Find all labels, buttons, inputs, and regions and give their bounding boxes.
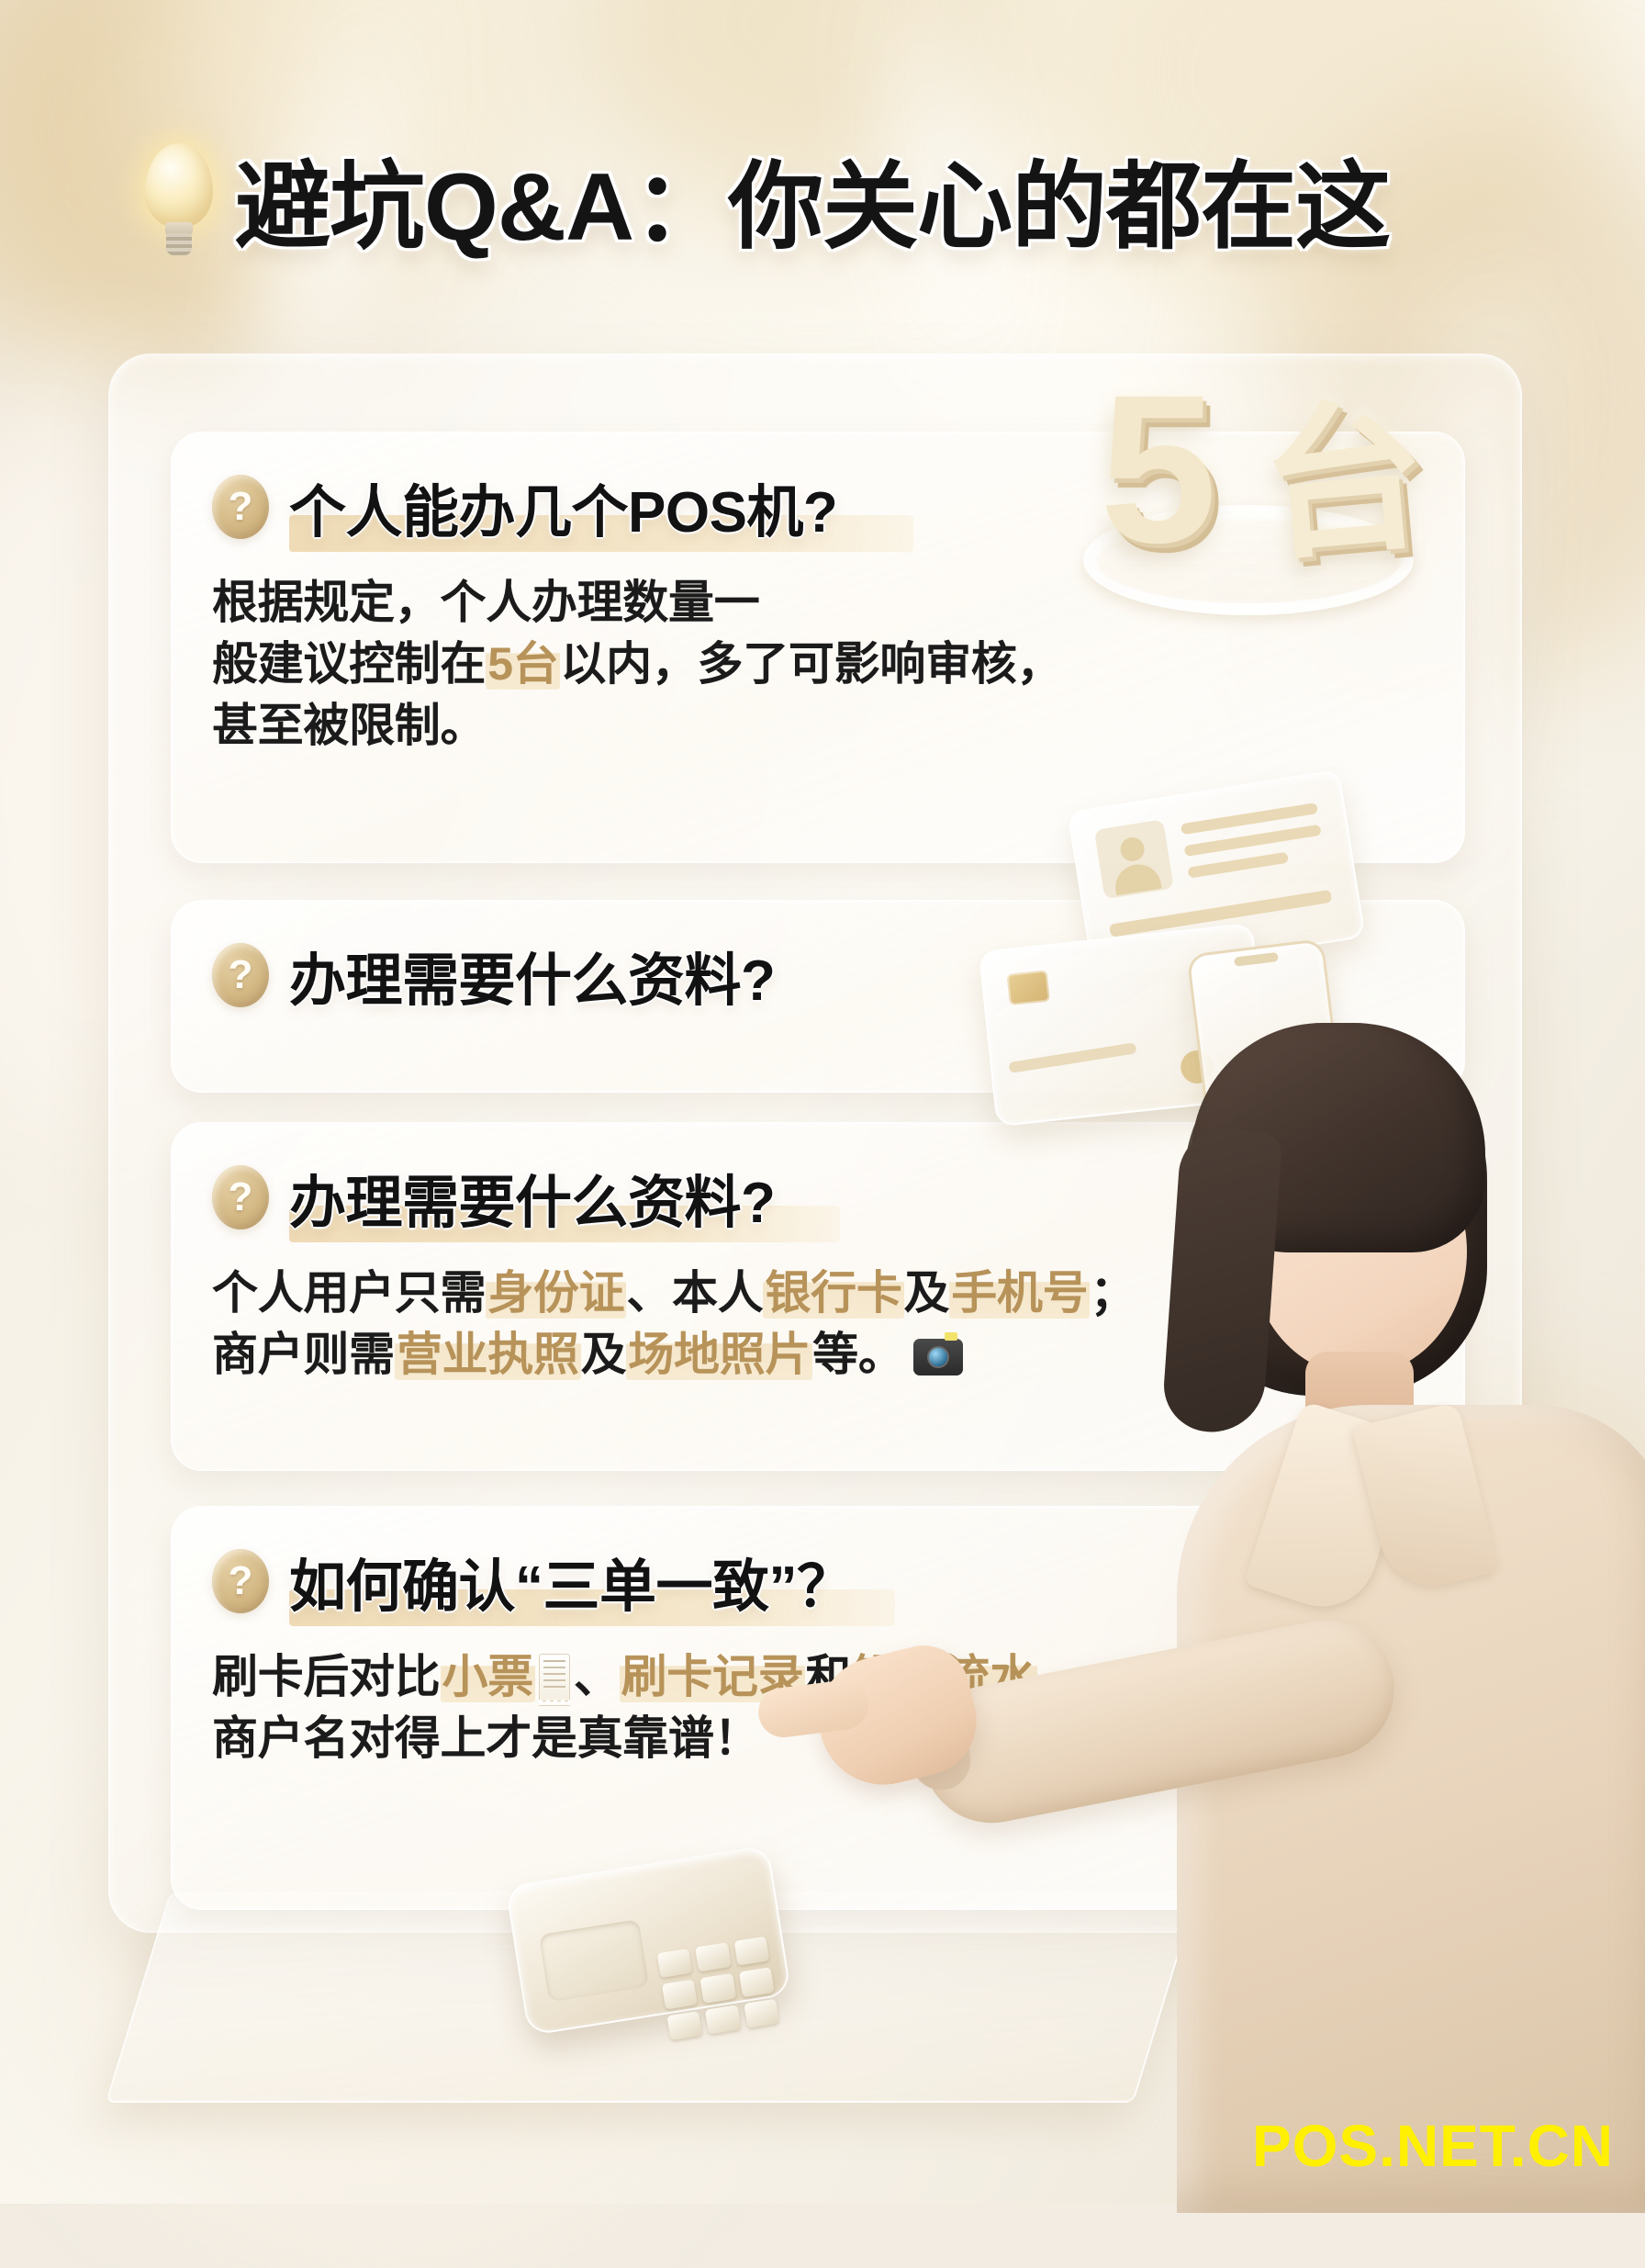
answer-keyword: 5台 <box>486 638 560 690</box>
answer-span: 等。 <box>812 1329 903 1380</box>
question-badge-icon: ? <box>212 943 269 1007</box>
character-illustration <box>1030 1019 1645 2204</box>
question-text: 如何确认“三单一致”？ <box>289 1540 854 1622</box>
site-watermark: POS.NET.CN <box>1252 2112 1614 2180</box>
answer-span: 商户则需 <box>212 1329 395 1380</box>
answer-span: 、本人 <box>626 1267 763 1319</box>
question-text: 办理需要什么资料? <box>289 1156 775 1239</box>
answer-span: 刷卡后对比 <box>212 1651 441 1702</box>
answer-span: 及 <box>581 1329 627 1380</box>
answer-span: 以内，多了可影响审核， <box>560 638 1062 690</box>
page-header: 避坑Q&A：你关心的都在这 <box>0 129 1645 266</box>
question-row: ? 办理需要什么资料? <box>212 934 1424 1016</box>
answer-line: 甚至被限制。 <box>212 695 1424 757</box>
answer-text: 根据规定，个人办理数量一般建议控制在5台以内，多了可影响审核，甚至被限制。 <box>212 572 1424 757</box>
answer-keyword: 身份证 <box>486 1267 626 1319</box>
question-badge-icon: ? <box>212 1549 269 1613</box>
question-text: 办理需要什么资料? <box>289 934 775 1016</box>
question-text: 个人能办几个POS机? <box>289 466 837 548</box>
lightbulb-glass <box>145 143 213 228</box>
question-badge-icon: ? <box>212 475 269 539</box>
pos-keypad <box>657 1937 780 2041</box>
answer-keyword: 银行卡 <box>763 1267 903 1319</box>
answer-keyword: 小票 <box>441 1651 535 1702</box>
answer-keyword: 营业执照 <box>395 1329 581 1380</box>
pos-terminal <box>499 1807 804 2059</box>
answer-span: 、 <box>574 1651 620 1702</box>
answer-span: 个人用户只需 <box>212 1267 486 1319</box>
answer-line: 根据规定，个人办理数量一 <box>212 572 1424 634</box>
answer-span: 及 <box>904 1267 950 1319</box>
answer-span: 根据规定，个人办理数量一 <box>212 577 759 628</box>
page-title: 避坑Q&A：你关心的都在这 <box>235 129 1390 267</box>
lightbulb-base <box>166 233 192 255</box>
pos-body <box>505 1845 791 2036</box>
character-hair-side <box>1161 1127 1283 1436</box>
answer-span: 甚至被限制。 <box>212 700 486 751</box>
qa-card[interactable]: ? 个人能办几个POS机? 根据规定，个人办理数量一般建议控制在5台以内，多了可… <box>171 432 1465 863</box>
pos-screen <box>539 1919 649 2002</box>
camera-icon <box>913 1339 963 1375</box>
question-row: ? 个人能办几个POS机? <box>212 466 1424 548</box>
question-badge-icon: ? <box>212 1165 269 1229</box>
receipt-icon <box>539 1654 570 1701</box>
answer-span: 般建议控制在 <box>212 638 486 690</box>
lightbulb-icon <box>129 138 229 257</box>
answer-line: 般建议控制在5台以内，多了可影响审核， <box>212 634 1424 695</box>
answer-keyword: 场地照片 <box>626 1329 812 1380</box>
answer-span: 商户名对得上才是真靠谱！ <box>212 1712 759 1764</box>
